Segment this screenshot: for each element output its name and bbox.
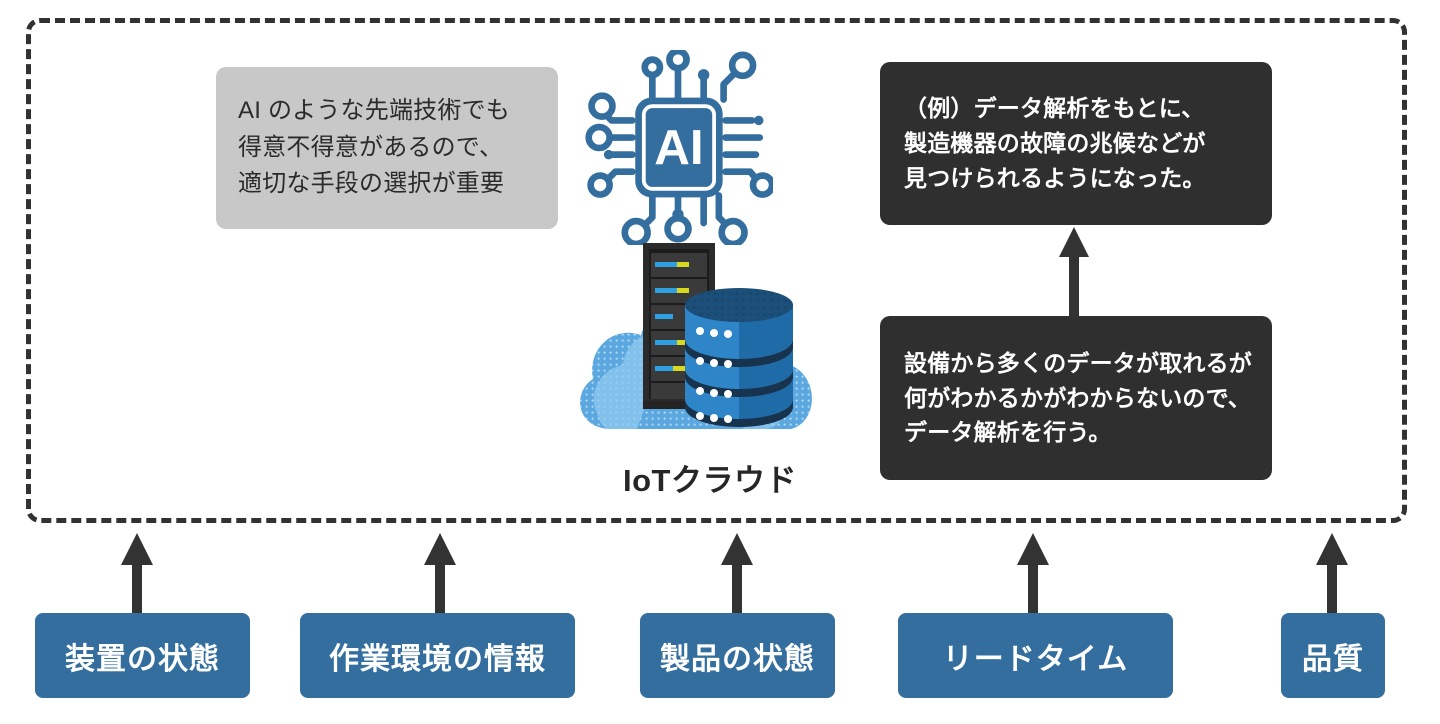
callout-analysis-outcome: （例）データ解析をもとに、 製造機器の故障の兆候などが 見つけられるようになった… [880, 62, 1272, 225]
callout-analysis-motivation-line-1: 設備から多くのデータが取れるが [904, 346, 1248, 381]
source-box-4-label: リードタイム [943, 634, 1128, 678]
ai-chip-icon: AI [583, 50, 773, 245]
ai-chip-label: AI [654, 120, 703, 175]
callout-analysis-motivation-line-2: 何がわかるかがわからないので、 [904, 381, 1248, 416]
source-box-1[interactable]: 装置の状態 [35, 613, 250, 698]
iot-cloud-server-database-icon [567, 243, 844, 455]
callout-ai-advice-line-3: 適切な手段の選択が重要 [238, 166, 536, 202]
source-box-5-label: 品質 [1302, 634, 1364, 678]
callout-ai-advice-line-2: 得意不得意があるので、 [238, 130, 536, 166]
database-cylinder [685, 288, 793, 427]
arrow-source-3-to-zone [718, 533, 756, 614]
source-box-5[interactable]: 品質 [1281, 613, 1385, 698]
source-box-4[interactable]: リードタイム [898, 613, 1173, 698]
callout-analysis-outcome-line-1: （例）データ解析をもとに、 [904, 91, 1248, 126]
arrow-motivation-to-outcome [1056, 227, 1092, 319]
arrow-source-4-to-zone [1014, 533, 1052, 614]
callout-analysis-outcome-line-3: 見つけられるようになった。 [904, 161, 1248, 196]
callout-ai-advice-line-1: AI のような先端技術でも [238, 93, 536, 129]
source-box-3-label: 製品の状態 [660, 634, 815, 678]
callout-analysis-outcome-line-2: 製造機器の故障の兆候などが [904, 126, 1248, 161]
arrow-source-5-to-zone [1313, 533, 1351, 614]
callout-analysis-motivation: 設備から多くのデータが取れるが 何がわかるかがわからないので、 データ解析を行う… [880, 316, 1272, 480]
source-box-3[interactable]: 製品の状態 [640, 613, 835, 698]
diagram-canvas: AI のような先端技術でも 得意不得意があるので、 適切な手段の選択が重要 （例… [0, 0, 1440, 724]
source-box-2[interactable]: 作業環境の情報 [300, 613, 575, 698]
source-box-1-label: 装置の状態 [65, 634, 220, 678]
iot-cloud-label: IoTクラウド [520, 455, 900, 500]
arrow-source-2-to-zone [421, 533, 459, 614]
arrow-source-1-to-zone [118, 533, 156, 614]
callout-ai-advice: AI のような先端技術でも 得意不得意があるので、 適切な手段の選択が重要 [216, 67, 558, 229]
callout-analysis-motivation-line-3: データ解析を行う。 [904, 415, 1248, 450]
source-box-2-label: 作業環境の情報 [329, 634, 546, 678]
